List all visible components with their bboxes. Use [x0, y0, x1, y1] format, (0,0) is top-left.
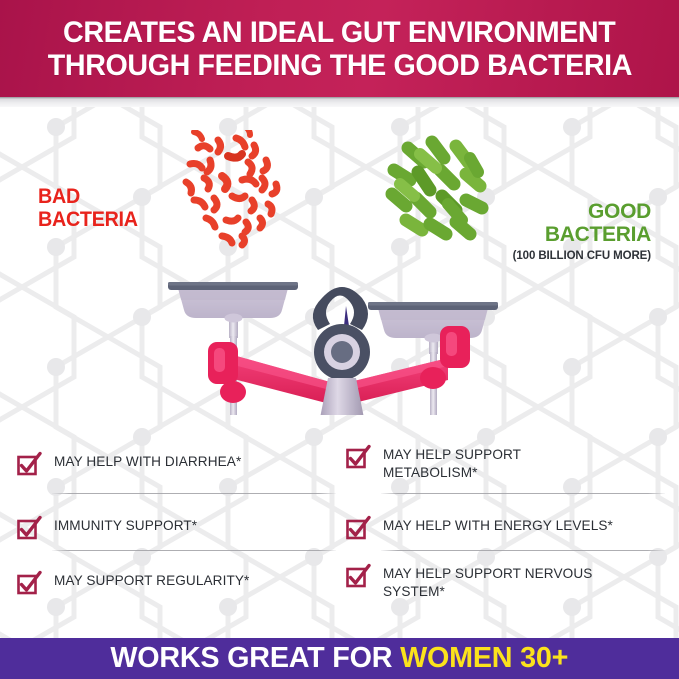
list-item-label: MAY HELP WITH ENERGY LEVELS* [383, 514, 613, 535]
list-item-label: MAY HELP SUPPORT NERVOUS SYSTEM* [383, 562, 633, 600]
good-bacteria-label-line2: BACTERIA [545, 223, 651, 246]
list-item[interactable]: MAY HELP WITH DIARRHEA* [16, 450, 336, 477]
checkbox-checked-icon [16, 515, 42, 541]
bad-bacteria-label-line2: BACTERIA [38, 208, 138, 231]
list-divider [52, 550, 336, 551]
list-item[interactable]: MAY HELP SUPPORT METABOLISM* [345, 443, 665, 481]
good-bacteria-label: GOOD BACTERIA [545, 200, 651, 246]
checkbox-checked-icon [16, 451, 42, 477]
bad-bacteria-cluster [186, 130, 277, 245]
list-divider [381, 550, 665, 551]
footer-text-white: WORKS GREAT FOR [111, 642, 393, 674]
good-bacteria-label-line1: GOOD [545, 200, 651, 223]
footer-text: WORKS GREAT FOR WOMEN 30+ [111, 642, 569, 675]
list-item-label: MAY HELP WITH DIARRHEA* [54, 450, 241, 471]
list-item-label: MAY SUPPORT REGULARITY* [54, 569, 249, 590]
balance-scale-illustration [150, 130, 540, 415]
header-banner: CREATES AN IDEAL GUT ENVIRONMENT THROUGH… [0, 0, 679, 97]
list-divider [381, 493, 665, 494]
benefits-checklist: MAY HELP WITH DIARRHEA* IMMUNITY SUPPORT… [0, 440, 679, 630]
list-item[interactable]: MAY HELP SUPPORT NERVOUS SYSTEM* [345, 562, 665, 600]
list-divider [52, 493, 336, 494]
checkbox-checked-icon [345, 515, 371, 541]
bad-bacteria-label: BAD BACTERIA [38, 185, 138, 231]
list-item[interactable]: MAY SUPPORT REGULARITY* [16, 569, 336, 596]
header-line-2: THROUGH FEEDING THE GOOD BACTERIA [47, 49, 631, 82]
footer-banner: WORKS GREAT FOR WOMEN 30+ [0, 638, 679, 679]
list-item[interactable]: IMMUNITY SUPPORT* [16, 514, 336, 541]
list-item-label: MAY HELP SUPPORT METABOLISM* [383, 443, 598, 481]
checkbox-checked-icon [16, 570, 42, 596]
list-item[interactable]: MAY HELP WITH ENERGY LEVELS* [345, 514, 665, 541]
header-line-1: CREATES AN IDEAL GUT ENVIRONMENT [63, 16, 615, 49]
list-item-label: IMMUNITY SUPPORT* [54, 514, 197, 535]
right-pan [368, 302, 498, 354]
bad-bacteria-label-line1: BAD [38, 185, 138, 208]
checkbox-checked-icon [345, 444, 371, 470]
good-bacteria-cluster [392, 142, 482, 234]
checkbox-checked-icon [345, 563, 371, 589]
footer-text-yellow: WOMEN 30+ [400, 642, 568, 674]
infographic-page: CREATES AN IDEAL GUT ENVIRONMENT THROUGH… [0, 0, 679, 679]
left-pan [168, 282, 298, 338]
